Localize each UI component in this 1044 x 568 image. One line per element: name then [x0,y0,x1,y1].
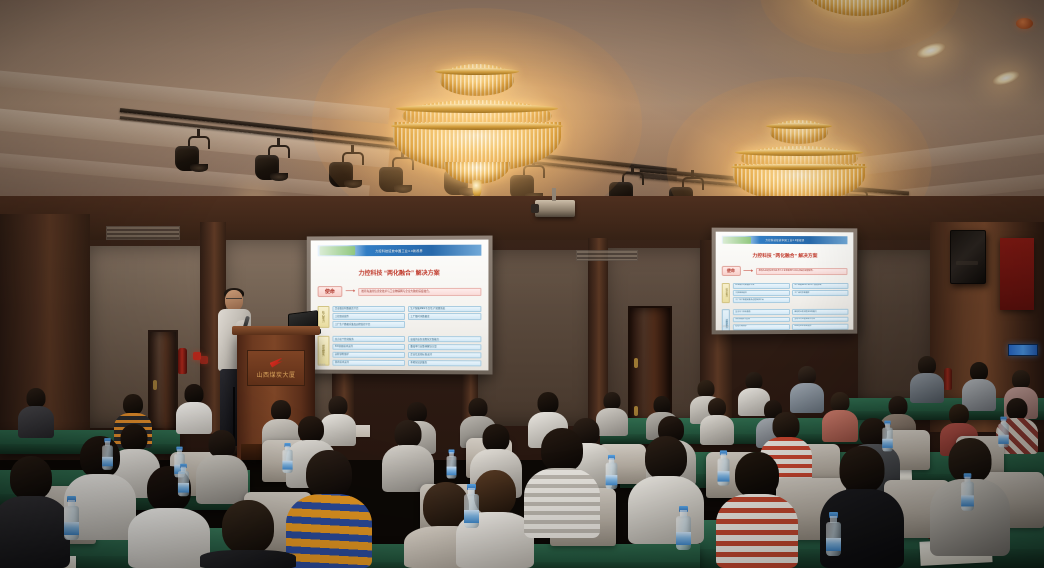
water-bottle [882,421,893,452]
smoke-detector-icon [1016,18,1033,29]
red-wall-banner [1000,238,1034,310]
service-chip: 企业信息化标准支持 [408,352,481,359]
blue-exit-sign [1008,344,1038,356]
audience-member [524,428,600,538]
capability-chip: 工控组态软件 [332,313,405,319]
service-chip: 重效率行业整体解决方案 [792,316,848,322]
audience-member [200,500,296,568]
water-bottle [102,438,113,470]
podium-top [232,326,320,335]
service-chip: 远程诊断维护 [733,324,790,330]
audience-member [628,436,704,544]
audience-member [128,466,210,568]
capability-chip: 生产智能MES平台/生产管理系统 [408,306,481,312]
mission-tag: 使命 [721,266,740,276]
slide-content: 力控科技绽放中国工业4.0新视界 力控科技 “两化融合” 解决方案 使命 ⟶ 推… [311,240,489,371]
water-bottle [178,464,189,497]
service-chip: 全方位个性化服务 [332,336,405,343]
water-bottle [464,484,479,528]
service-chip: 企业信息化标准支持 [792,324,848,330]
fire-extinguisher-icon [944,368,952,390]
water-bottle [998,417,1009,448]
service-chip: 高效的业务流程化定制能力 [792,309,848,315]
capability-chip: 工控组态软件 [733,290,790,296]
water-bottle [606,455,618,489]
air-vent [576,250,638,261]
slide-group-two: 增值服务 全方位个性化服务 400热线技术支持 远程诊断维护 现场技术支持 高效… [318,336,482,367]
chandelier-rim [766,123,832,129]
chandelier-rim [391,122,563,130]
slide-title: 力控科技 “两化融合” 解决方案 [721,252,848,259]
slide-group-one: 核心能力 企业级实时数据库平台 工控组态软件 工厂生产数据采集及远程监控平台 生… [318,306,482,328]
audience-member [176,384,212,434]
water-bottle [826,512,841,556]
room-door[interactable] [148,330,178,434]
wall-speaker-icon [950,230,986,284]
slide-footer: 力控科技 [721,325,729,328]
capability-chip: 工厂生产数据采集及远程监控平台 [332,321,405,328]
capability-chip: 企业级实时数据库平台 [733,283,790,289]
slide-logo [319,246,355,255]
service-chip: 现场技术支持 [332,359,405,366]
venue-logo-icon [270,358,283,368]
venue-name: 山西煤炭大厦 [256,370,295,379]
capability-chip: 企业级实时数据库平台 [332,306,405,312]
chandelier [800,0,920,22]
slide-group-two: 增值服务 全方位个性化服务 400热线技术支持 远程诊断维护 现场技术支持 高效… [721,309,848,330]
striped-shirt-attendee [286,450,372,568]
audience-member [18,388,54,438]
projection-screen-secondary: 力控科技绽放中国工业4.0新视界 力控科技 “两化融合” 解决方案 使命 ⟶ 推… [712,228,858,335]
capability-chip: 工厂级时序数据库 [792,290,848,296]
stage-spotlight-icon [266,145,292,181]
slide-content: 力控科技绽放中国工业4.0新视界 力控科技 “两化融合” 解决方案 使命 ⟶ 推… [716,232,854,331]
water-bottle [676,506,691,550]
chandelier-main [372,48,582,198]
slide-footer: 力控科技 [318,364,326,367]
capability-chip: 工厂生产数据采集及远程监控平台 [733,297,790,303]
audience-member [790,366,824,412]
audience-member [0,456,70,568]
service-chip: 高效的业务流程化定制能力 [408,336,481,343]
chandelier-rim [735,149,863,156]
service-chip: 本地化培训服务 [408,360,481,367]
service-chip: 400热线技术支持 [332,344,405,351]
podium-plaque: 山西煤炭大厦 [247,350,305,386]
mission-text: 推荐先进的信息化技术与工业物联网与企业大脑的深度融合。 [756,268,848,275]
service-chip: 重效率行业整体解决方案 [408,344,481,351]
group-one-label: 核心能力 [721,283,730,303]
water-bottle [718,450,730,485]
water-bottle [447,449,457,478]
mission-tag: 使命 [318,286,342,297]
group-one-label: 核心能力 [318,306,329,328]
audience-member [700,398,734,444]
slide-group-one: 核心能力 企业级实时数据库平台 工控组态软件 工厂生产数据采集及远程监控平台 生… [721,283,848,303]
chandelier-rim [396,104,558,113]
arrow-right-icon: ⟶ [743,268,753,275]
slide-banner: 力控科技绽放中国工业4.0新视界 [721,236,848,245]
fire-extinguisher-icon [178,348,187,374]
projection-screen-main: 力控科技绽放中国工业4.0新视界 力控科技 “两化融合” 解决方案 使命 ⟶ 推… [307,236,493,375]
slide-mission-row: 使命 ⟶ 推荐先进的信息化技术与工业物联网与企业大脑的深度融合。 [318,286,482,297]
arrow-right-icon: ⟶ [345,288,355,295]
water-bottle [64,496,79,540]
fire-alarm-icon [200,356,208,364]
chandelier-rim [731,164,867,170]
slide-title: 力控科技 “两化融合” 解决方案 [318,267,482,276]
air-vent [106,226,180,240]
capability-chip: 工厂级时序数据库 [408,313,481,320]
slide-banner: 力控科技绽放中国工业4.0新视界 [318,245,482,256]
conference-room-photo: 力控科技绽放中国工业4.0新视界 力控科技 “两化融合” 解决方案 使命 ⟶ 推… [0,0,1044,568]
mission-text: 推荐先进的信息化技术与工业物联网与企业大脑的深度融合。 [358,288,481,296]
service-chip: 全方位个性化服务 [733,309,790,315]
audience-member [962,362,996,410]
water-bottle [282,443,292,473]
capability-chip: 生产智能MES平台/生产管理系统 [792,283,848,289]
slide-mission-row: 使命 ⟶ 推荐先进的信息化技术与工业物联网与企业大脑的深度融合。 [721,266,848,276]
water-bottle [961,473,974,510]
group-two-label: 增值服务 [318,336,329,366]
service-chip: 远程诊断维护 [332,352,405,359]
stage-spotlight-icon [186,136,212,172]
chandelier-rim [435,68,519,75]
glasses-icon [226,298,242,301]
ceiling-projector-icon [535,200,575,217]
service-chip: 400热线技术支持 [733,317,790,323]
slide-logo [723,236,751,243]
